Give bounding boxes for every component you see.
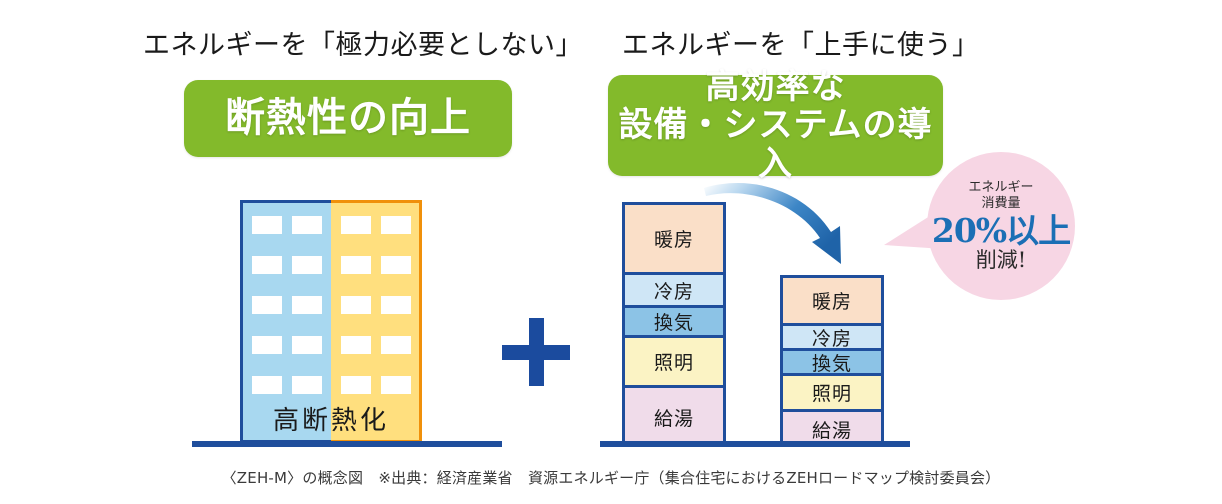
energy-segment-換気: 換気 [783, 351, 881, 376]
heading-right: エネルギーを「上手に使う」 [622, 23, 980, 62]
building-window [381, 296, 411, 314]
energy-segment-label: 換気 [812, 349, 852, 376]
energy-segment-label: 冷房 [812, 324, 852, 351]
energy-segment-照明: 照明 [625, 338, 723, 388]
green-pill-insulation-label: 断熱性の向上 [225, 96, 471, 141]
energy-segment-照明: 照明 [783, 376, 881, 412]
building-window [341, 216, 371, 234]
energy-segment-label: 暖房 [654, 225, 694, 252]
energy-segment-冷房: 冷房 [783, 326, 881, 351]
building-window [381, 376, 411, 394]
heading-left: エネルギーを「極力必要としない」 [143, 23, 583, 62]
building-window [341, 336, 371, 354]
energy-segment-label: 給湯 [654, 404, 694, 431]
building-window [341, 256, 371, 274]
building-window [252, 256, 282, 274]
energy-segment-label: 換気 [654, 308, 694, 335]
building-window [292, 296, 322, 314]
energy-segment-label: 照明 [812, 379, 852, 406]
building-window [252, 376, 282, 394]
building-window [341, 376, 371, 394]
energy-stack-after: 暖房冷房換気照明給湯 [780, 275, 884, 443]
energy-segment-label: 給湯 [812, 416, 852, 443]
green-pill-equipment-line2: 設備・システムの導入 [608, 106, 943, 182]
energy-segment-label: 暖房 [812, 287, 852, 314]
plus-icon [502, 318, 570, 386]
infographic-canvas: エネルギーを「極力必要としない」 エネルギーを「上手に使う」 断熱性の向上 高効… [0, 0, 1222, 504]
energy-segment-label: 照明 [654, 348, 694, 375]
building-window [381, 256, 411, 274]
reduction-callout: エネルギー 消費量 20%以上 削減! [927, 152, 1075, 300]
building-window [381, 216, 411, 234]
callout-line4: 削減! [976, 249, 1026, 272]
building-window [341, 296, 371, 314]
building-window [292, 336, 322, 354]
ground-line-right [600, 441, 910, 447]
energy-segment-給湯: 給湯 [625, 388, 723, 446]
curved-arrow-icon [700, 168, 880, 280]
ground-line-left [192, 441, 502, 447]
building-label: 高断熱化 [240, 400, 422, 437]
source-caption: 〈ZEH-M〉の概念図 ※出典：経済産業省 資源エネルギー庁（集合住宅におけるZ… [0, 467, 1222, 488]
building-window [381, 336, 411, 354]
energy-segment-label: 冷房 [654, 277, 694, 304]
green-pill-insulation: 断熱性の向上 [184, 80, 512, 157]
green-pill-equipment: 高効率な 設備・システムの導入 [608, 75, 943, 176]
building-window [252, 216, 282, 234]
building-window [292, 256, 322, 274]
callout-percentage: 20%以上 [932, 214, 1070, 247]
green-pill-equipment-line1: 高効率な [608, 68, 943, 106]
callout-line1: エネルギー [968, 180, 1033, 196]
building-illustration: 高断熱化 [240, 200, 422, 443]
energy-segment-換気: 換気 [625, 308, 723, 338]
building-window [292, 376, 322, 394]
building-window [292, 216, 322, 234]
building-window [252, 336, 282, 354]
building-window [252, 296, 282, 314]
energy-segment-暖房: 暖房 [783, 278, 881, 326]
